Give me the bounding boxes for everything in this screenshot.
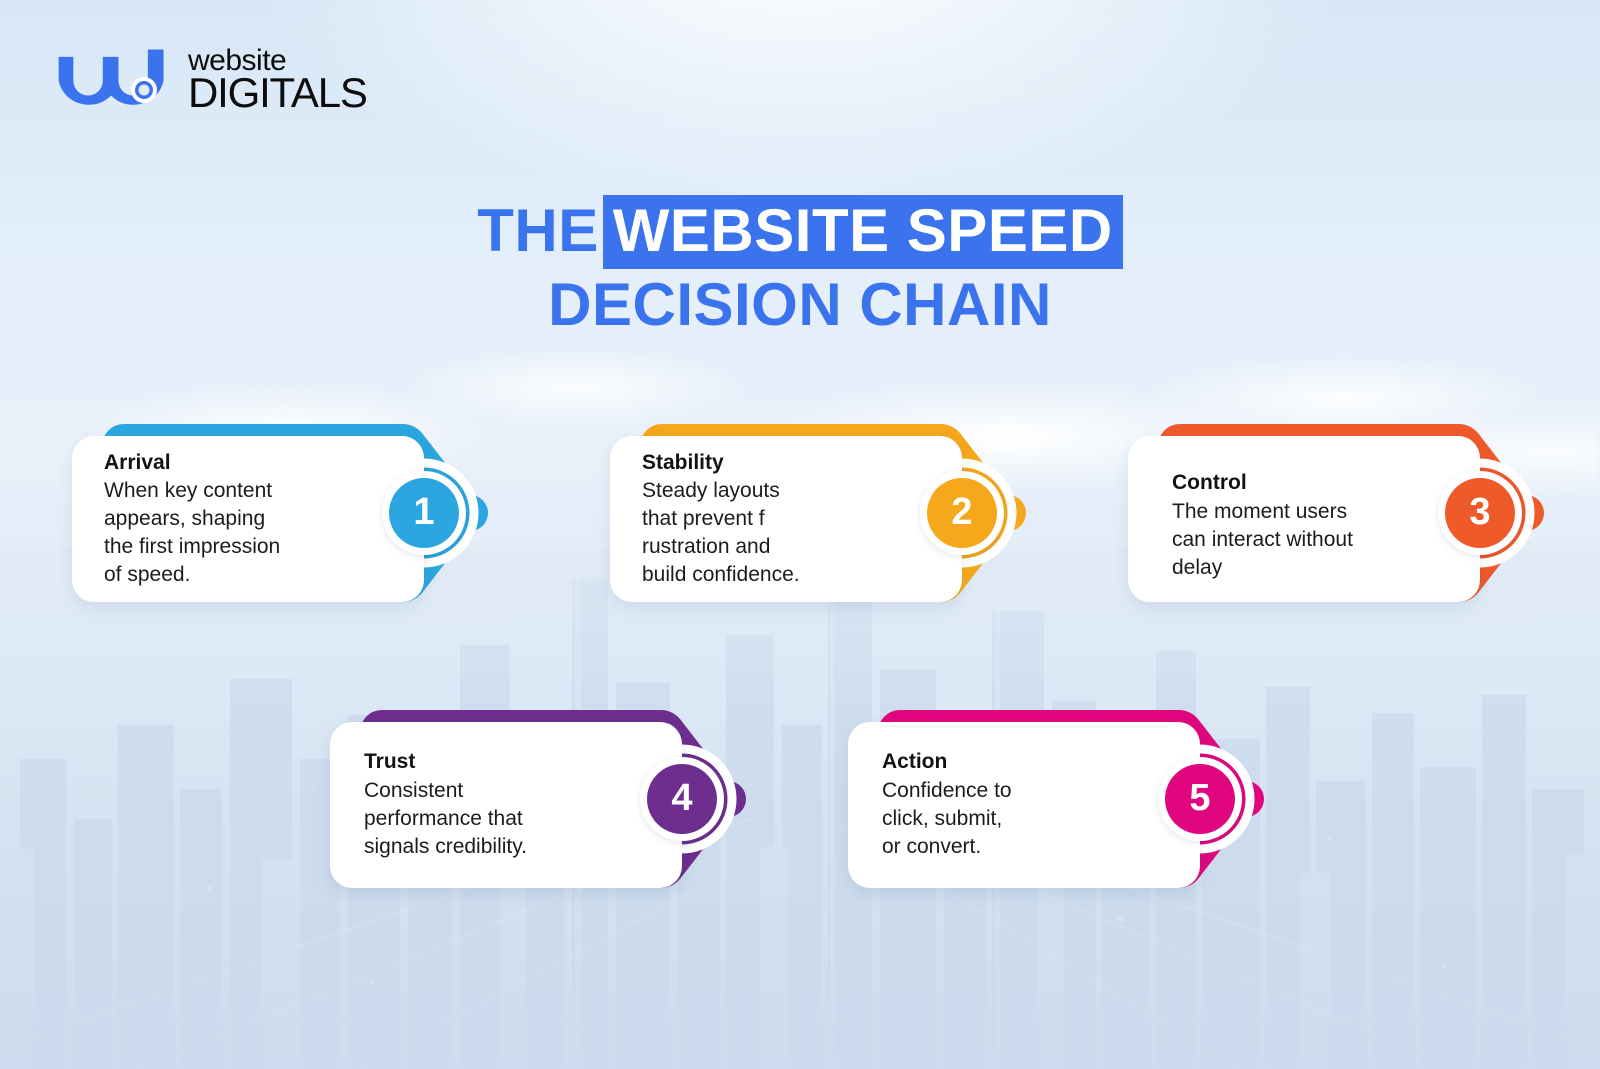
step-number-4-icon: 4 xyxy=(647,764,717,834)
step-number-1-icon: 1 xyxy=(389,478,459,548)
card-title: Stability xyxy=(642,450,908,476)
step-card-action[interactable]: Action Confidence to click, submit, or c… xyxy=(848,710,1268,900)
card-description: Consistent performance that signals cred… xyxy=(364,777,630,861)
page-title: THEWEBSITE SPEED DECISION CHAIN xyxy=(0,196,1600,340)
step-number-label: 4 xyxy=(671,779,692,817)
step-number-2-icon: 2 xyxy=(927,478,997,548)
brand-name-line2: DIGITALS xyxy=(188,73,367,113)
wd-monogram-icon xyxy=(58,44,178,114)
step-number-label: 2 xyxy=(951,493,972,531)
step-badge[interactable]: 2 xyxy=(920,471,1004,555)
card-panel: Action Confidence to click, submit, or c… xyxy=(848,722,1200,888)
step-badge[interactable]: 4 xyxy=(640,757,724,841)
card-description: Steady layouts that prevent f rustration… xyxy=(642,477,908,589)
title-highlight: WEBSITE SPEED xyxy=(603,195,1123,269)
step-badge[interactable]: 5 xyxy=(1158,757,1242,841)
title-line-2: DECISION CHAIN xyxy=(0,270,1600,340)
card-description: Confidence to click, submit, or convert. xyxy=(882,777,1148,861)
step-card-arrival[interactable]: Arrival When key content appears, shapin… xyxy=(72,424,492,614)
step-number-label: 3 xyxy=(1469,493,1490,531)
card-panel: Control The moment users can interact wi… xyxy=(1128,436,1480,602)
infographic-canvas: website DIGITALS THEWEBSITE SPEED DECISI… xyxy=(0,0,1600,1069)
step-card-stability[interactable]: Stability Steady layouts that prevent f … xyxy=(610,424,1030,614)
title-word-the: THE xyxy=(477,197,599,264)
card-title: Trust xyxy=(364,749,630,775)
card-panel: Trust Consistent performance that signal… xyxy=(330,722,682,888)
card-text: Action Confidence to click, submit, or c… xyxy=(882,749,1148,860)
card-title: Arrival xyxy=(104,450,370,476)
card-text: Trust Consistent performance that signal… xyxy=(364,749,630,860)
card-panel: Stability Steady layouts that prevent f … xyxy=(610,436,962,602)
card-panel: Arrival When key content appears, shapin… xyxy=(72,436,424,602)
card-text: Arrival When key content appears, shapin… xyxy=(104,450,370,589)
brand-logo[interactable]: website DIGITALS xyxy=(58,44,367,114)
card-description: When key content appears, shaping the fi… xyxy=(104,477,370,589)
step-badge[interactable]: 1 xyxy=(382,471,466,555)
step-number-3-icon: 3 xyxy=(1445,478,1515,548)
step-number-label: 5 xyxy=(1189,779,1210,817)
step-card-control[interactable]: Control The moment users can interact wi… xyxy=(1128,424,1548,614)
card-title: Control xyxy=(1172,470,1452,496)
brand-wordmark: website DIGITALS xyxy=(188,45,367,113)
card-description: The moment users can interact without de… xyxy=(1172,498,1452,582)
card-title: Action xyxy=(882,749,1148,775)
step-number-label: 1 xyxy=(413,493,434,531)
card-text: Stability Steady layouts that prevent f … xyxy=(642,450,908,589)
step-number-5-icon: 5 xyxy=(1165,764,1235,834)
step-card-trust[interactable]: Trust Consistent performance that signal… xyxy=(330,710,750,900)
card-text: Control The moment users can interact wi… xyxy=(1172,470,1452,581)
step-badge[interactable]: 3 xyxy=(1438,471,1522,555)
title-line-1: THEWEBSITE SPEED xyxy=(0,196,1600,266)
